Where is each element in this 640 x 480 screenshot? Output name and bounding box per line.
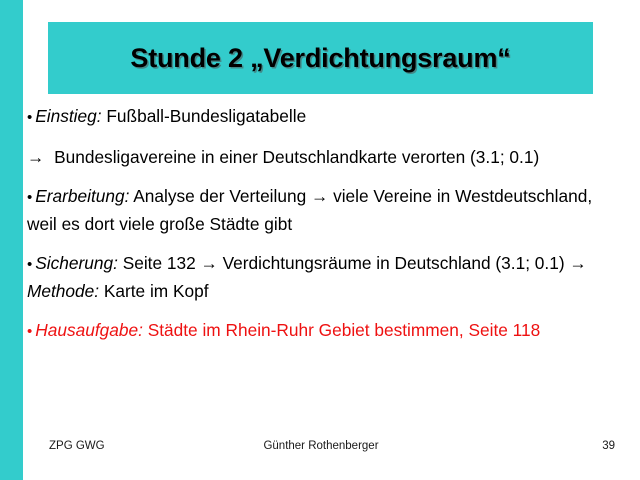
bullet-emphasis-sicherung: Sicherung: <box>35 253 118 273</box>
footer-author-label: Günther Rothenberger <box>27 440 615 452</box>
bullet-emphasis-einstieg: Einstieg: <box>35 106 101 126</box>
bullet-item-sicherung: •Sicherung: Seite 132 → Verdichtungsräum… <box>27 250 615 304</box>
title-banner: Stunde 2 „Verdichtungsraum“ <box>48 22 593 94</box>
slide-title: Stunde 2 „Verdichtungsraum“ <box>130 43 510 74</box>
bullet-text-einstieg: Fußball-Bundesligatabelle <box>102 106 307 126</box>
bullet-text-sicherung-b: Karte im Kopf <box>99 281 209 301</box>
presentation-slide: Stunde 2 „Verdichtungsraum“ •Einstieg: F… <box>0 0 640 480</box>
slide-body: •Einstieg: Fußball-Bundesligatabelle → B… <box>27 103 615 358</box>
bullet-text-hausaufgabe: Städte im Rhein-Ruhr Gebiet bestimmen, S… <box>143 320 540 340</box>
slide-footer: ZPG GWG Günther Rothenberger 39 <box>27 440 615 460</box>
bullet-text-verorten: Bundesligavereine in einer Deutschlandka… <box>49 147 539 167</box>
bullet-emphasis-methode: Methode: <box>27 281 99 301</box>
bullet-item-einstieg: •Einstieg: Fußball-Bundesligatabelle <box>27 103 615 131</box>
left-accent-stripe <box>0 0 23 480</box>
bullet-item-erarbeitung: •Erarbeitung: Analyse der Verteilung → v… <box>27 183 615 237</box>
bullet-text-sicherung-a: Seite 132 → Verdichtungsräume in Deutsch… <box>118 253 587 273</box>
footer-page-number: 39 <box>602 440 615 452</box>
bullet-emphasis-erarbeitung: Erarbeitung: <box>35 186 129 206</box>
bullet-item-verorten: → Bundesligavereine in einer Deutschland… <box>27 144 615 170</box>
arrow-right-icon: → <box>27 147 49 167</box>
bullet-item-hausaufgabe: •Hausaufgabe: Städte im Rhein-Ruhr Gebie… <box>27 317 615 345</box>
bullet-emphasis-hausaufgabe: Hausaufgabe: <box>35 320 143 340</box>
